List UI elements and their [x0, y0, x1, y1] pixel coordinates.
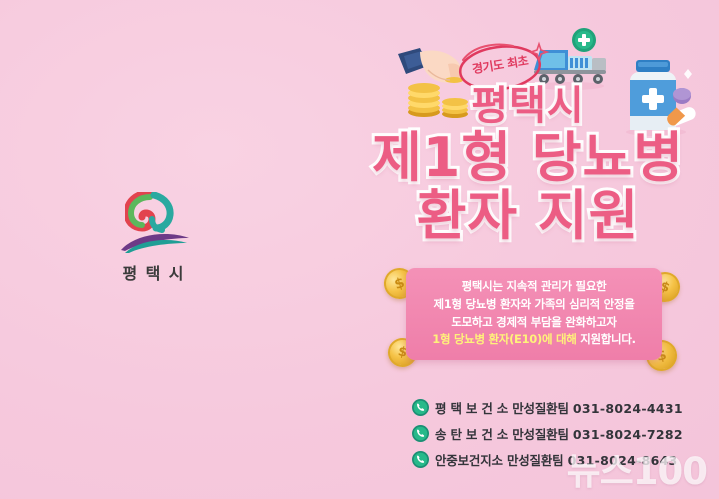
news-watermark: 뉴스100 [567, 441, 707, 495]
medical-cross-badge-icon [572, 28, 596, 52]
info-highlight-tail: 지원합니다. [580, 332, 635, 346]
info-line: 평택시는 지속적 관리가 필요한 [418, 278, 650, 296]
logo-field-lines-icon [115, 228, 193, 254]
headline: 평택시 제1형 당뇨병 환자 지원 [352, 86, 704, 244]
info-highlight-text: 1형 당뇨병 환자(E10)에 대해 [432, 332, 580, 346]
hand-icon [398, 48, 463, 83]
headline-line-1: 평택시 [352, 86, 704, 128]
phone-circle-icon [412, 451, 429, 468]
headline-line-3: 환자 지원 [352, 188, 704, 244]
city-logo: 평 택 시 [108, 192, 200, 284]
info-line: 제1형 당뇨병 환자와 가족의 심리적 안정을 [418, 296, 650, 314]
headline-line-2: 제1형 당뇨병 [352, 130, 704, 186]
phone-circle-icon [412, 399, 429, 416]
poster-canvas: 평 택 시 [0, 0, 719, 499]
contact-office: 안중보건지소 만성질환팀 [435, 453, 563, 468]
info-line: 도모하고 경제적 부담을 완화하고자 [418, 314, 650, 332]
contact-phone: 031-8024-7282 [573, 427, 683, 442]
city-logo-mark [111, 192, 197, 256]
program-description-box: 평택시는 지속적 관리가 필요한 제1형 당뇨병 환자와 가족의 심리적 안정을… [406, 268, 662, 360]
contact-office: 송 탄 보 건 소 만성질환팀 [435, 427, 569, 442]
city-logo-label: 평 택 시 [108, 260, 200, 284]
sparkle-star-icon [531, 44, 547, 60]
contact-phone: 031-8024-4431 [573, 401, 683, 416]
phone-circle-icon [412, 425, 429, 442]
contact-row: 평 택 보 건 소 만성질환팀 031-8024-4431 [412, 398, 702, 417]
contact-office: 평 택 보 건 소 만성질환팀 [435, 401, 569, 416]
info-line-highlight: 1형 당뇨병 환자(E10)에 대해 지원합니다. [418, 331, 650, 349]
contact-text: 평 택 보 건 소 만성질환팀 031-8024-4431 [435, 398, 683, 417]
